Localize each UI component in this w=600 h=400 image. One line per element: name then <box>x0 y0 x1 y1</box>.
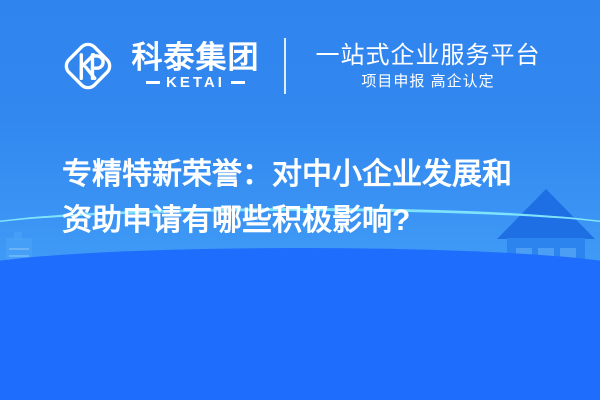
tagline-secondary: 项目申报 高企认定 <box>361 74 494 89</box>
brand-lockup: 科泰集团 KETAI 一站式企业服务平台 项目申报 高企认定 <box>60 38 541 94</box>
brand-name-en: KETAI <box>166 75 225 90</box>
brand-wordmark: 科泰集团 KETAI <box>132 42 260 90</box>
tagline-primary: 一站式企业服务平台 <box>316 44 541 68</box>
header-divider <box>284 38 286 94</box>
article-title-line-2: 资助申请有哪些积极影响? <box>62 198 554 244</box>
tagline-block: 一站式企业服务平台 项目申报 高企认定 <box>316 44 541 89</box>
wordmark-dash-right <box>231 81 245 84</box>
article-title: 专精特新荣誉：对中小企业发展和 资助申请有哪些积极影响? <box>62 152 554 244</box>
brand-name-en-row: KETAI <box>146 75 245 90</box>
promo-banner: 科泰集团 KETAI 一站式企业服务平台 项目申报 高企认定 专精特新荣誉：对中… <box>0 0 600 400</box>
wordmark-dash-left <box>146 81 160 84</box>
brand-name-cn: 科泰集团 <box>132 42 260 73</box>
ketai-diamond-kp-logo-icon <box>60 38 116 94</box>
article-title-line-1: 专精特新荣誉：对中小企业发展和 <box>62 152 554 198</box>
banner-header: 科泰集团 KETAI 一站式企业服务平台 项目申报 高企认定 <box>0 0 600 140</box>
